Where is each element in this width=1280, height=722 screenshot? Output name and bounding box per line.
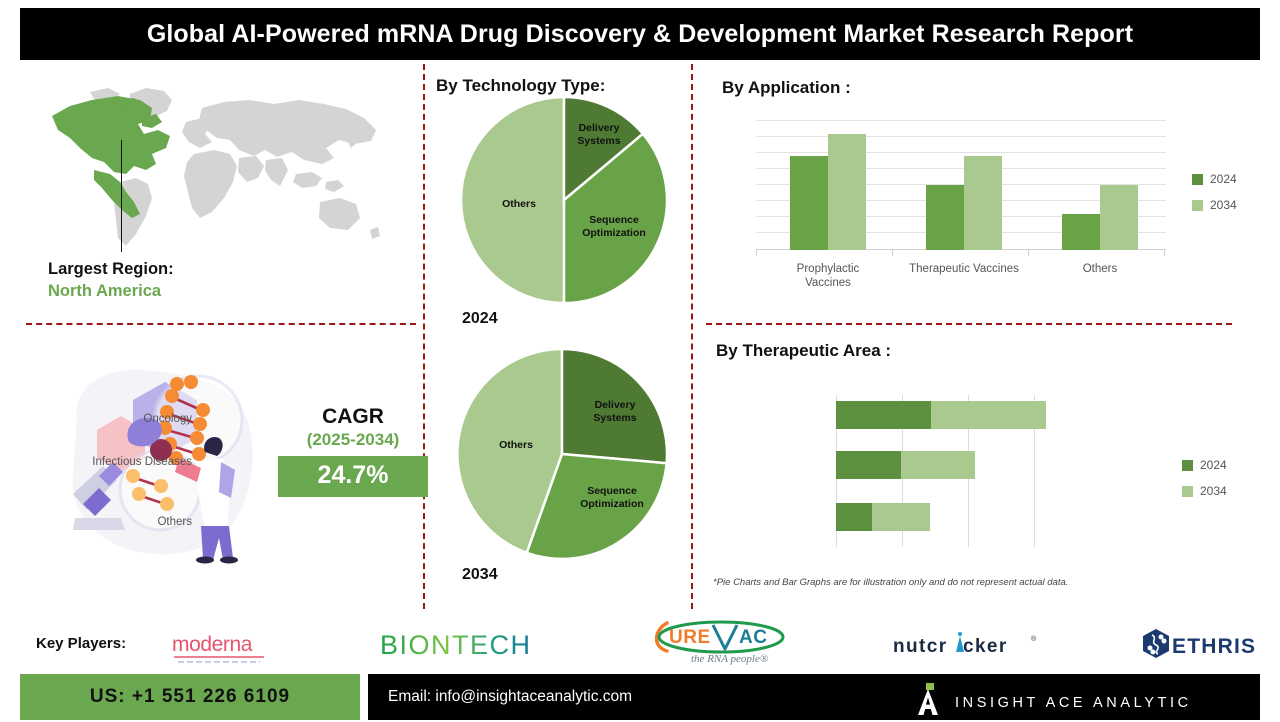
legend-application: 2024 2034	[1192, 172, 1237, 224]
curevac-logo: URE AC the RNA people®	[655, 617, 795, 670]
biontech-logo: BIONTECH	[380, 629, 546, 668]
pie-2024-label-sequence-optimization: Sequence Optimization	[566, 214, 662, 240]
hbar-oncology-2034	[931, 401, 1046, 429]
hbar-cat-oncology: Oncology	[72, 412, 192, 426]
divider-horizontal-left	[26, 323, 416, 325]
legend-label-2034: 2034	[1200, 484, 1227, 498]
gridline	[756, 136, 1166, 137]
svg-text:the RNA people®: the RNA people®	[691, 653, 769, 665]
bar-chart-therapeutic-area	[836, 395, 1074, 547]
largest-region-label: Largest Region:	[48, 258, 388, 280]
bar-prophylactic-2034	[828, 134, 866, 250]
axis-tick	[1164, 250, 1165, 256]
legend-item-2034: 2034	[1182, 484, 1227, 498]
report-title-bar: Global AI-Powered mRNA Drug Discovery & …	[20, 8, 1260, 60]
legend-item-2034: 2034	[1192, 198, 1237, 212]
legend-swatch-2034	[1182, 486, 1193, 497]
pie-2024-year: 2024	[462, 310, 498, 328]
footer-phone[interactable]: US: +1 551 226 6109	[20, 674, 360, 720]
hbar-infectious-diseases	[836, 451, 975, 479]
svg-text:moderna: moderna	[172, 633, 253, 656]
legend-therapeutic: 2024 2034	[1182, 458, 1227, 510]
divider-vertical-right	[691, 64, 693, 609]
legend-label-2024: 2024	[1210, 172, 1237, 186]
nutcracker-logo: nutcr cker ®	[893, 630, 1039, 665]
cat-label-therapeutic: Therapeutic Vaccines	[909, 262, 1019, 276]
pie-2034-label-others: Others	[481, 439, 551, 452]
world-map	[34, 78, 404, 263]
bar-prophylactic-2024	[790, 156, 828, 250]
hbar-infectious-2024	[836, 451, 901, 479]
svg-text:BIONTECH: BIONTECH	[380, 630, 532, 660]
bar-others-2034	[1100, 185, 1138, 250]
application-category-labels: Prophylactic Vaccines Therapeutic Vaccin…	[756, 262, 1166, 302]
hbar-others-2034	[872, 503, 930, 531]
axis-tick	[892, 250, 893, 256]
page-title: Global AI-Powered mRNA Drug Discovery & …	[147, 20, 1133, 49]
largest-region-block: Largest Region: North America	[48, 258, 388, 303]
moderna-logo: moderna	[172, 632, 276, 671]
svg-text:cker: cker	[963, 636, 1008, 657]
cat-label-prophylactic: Prophylactic Vaccines	[773, 262, 883, 291]
gridline	[756, 152, 1166, 153]
svg-text:URE: URE	[669, 627, 711, 648]
hbar-oncology	[836, 401, 1046, 429]
svg-text:nutcr: nutcr	[893, 636, 948, 657]
hbar-cat-others: Others	[72, 515, 192, 529]
pie-chart-technology-2034	[452, 350, 674, 558]
bar-therapeutic-2034	[964, 156, 1002, 250]
axis-tick	[1028, 250, 1029, 256]
cagr-value: 24.7%	[278, 456, 428, 497]
map-leader-line	[121, 140, 122, 252]
hbar-infectious-2034	[901, 451, 975, 479]
legend-swatch-2024	[1182, 460, 1193, 471]
bar-chart-application	[756, 120, 1166, 250]
infographic-page: Global AI-Powered mRNA Drug Discovery & …	[0, 0, 1280, 720]
legend-item-2024: 2024	[1192, 172, 1237, 186]
divider-horizontal-right	[706, 323, 1232, 325]
brand-block: INSIGHT ACE ANALYTIC	[915, 683, 1192, 722]
bar-therapeutic-2024	[926, 185, 964, 250]
legend-label-2024: 2024	[1200, 458, 1227, 472]
divider-vertical-left	[423, 64, 425, 609]
section-title-application: By Application :	[722, 78, 851, 98]
footer-email-text[interactable]: Email: info@insightaceanalytic.com	[388, 688, 632, 706]
brand-name: INSIGHT ACE ANALYTIC	[955, 695, 1192, 711]
hbar-cat-infectious-diseases: Infectious Diseases	[72, 455, 192, 469]
cat-label-others: Others	[1045, 262, 1155, 276]
pie-2034-year: 2034	[462, 566, 498, 584]
svg-text:®: ®	[1031, 635, 1037, 643]
pie-2034-label-sequence-optimization: Sequence Optimization	[564, 485, 660, 511]
pie-2034-label-delivery-systems: Delivery Systems	[576, 399, 654, 425]
hbar-others-2024	[836, 503, 872, 531]
bar-others-2024	[1062, 214, 1100, 250]
svg-text:AC: AC	[739, 627, 767, 648]
pie-2024-label-delivery-systems: Delivery Systems	[560, 122, 638, 148]
key-players-label: Key Players:	[36, 635, 126, 652]
insight-ace-a-logo	[915, 683, 941, 722]
gridline	[756, 120, 1166, 121]
chart-footnote: *Pie Charts and Bar Graphs are for illus…	[713, 577, 1068, 588]
axis-tick	[756, 250, 757, 256]
section-title-technology: By Technology Type:	[436, 76, 605, 96]
hbar-others	[836, 503, 930, 531]
hbar-oncology-2024	[836, 401, 931, 429]
section-title-therapeutic: By Therapeutic Area :	[716, 341, 891, 361]
cagr-period: (2025-2034)	[278, 429, 428, 452]
cagr-block: CAGR (2025-2034) 24.7%	[278, 405, 428, 497]
legend-item-2024: 2024	[1182, 458, 1227, 472]
legend-swatch-2024	[1192, 174, 1203, 185]
svg-text:ETHRIS: ETHRIS	[1172, 635, 1256, 658]
legend-swatch-2034	[1192, 200, 1203, 211]
largest-region-value: North America	[48, 280, 388, 302]
legend-label-2034: 2034	[1210, 198, 1237, 212]
cagr-title: CAGR	[278, 405, 428, 429]
ethris-logo: ETHRIS	[1140, 628, 1278, 665]
pie-2024-label-others: Others	[484, 198, 554, 211]
